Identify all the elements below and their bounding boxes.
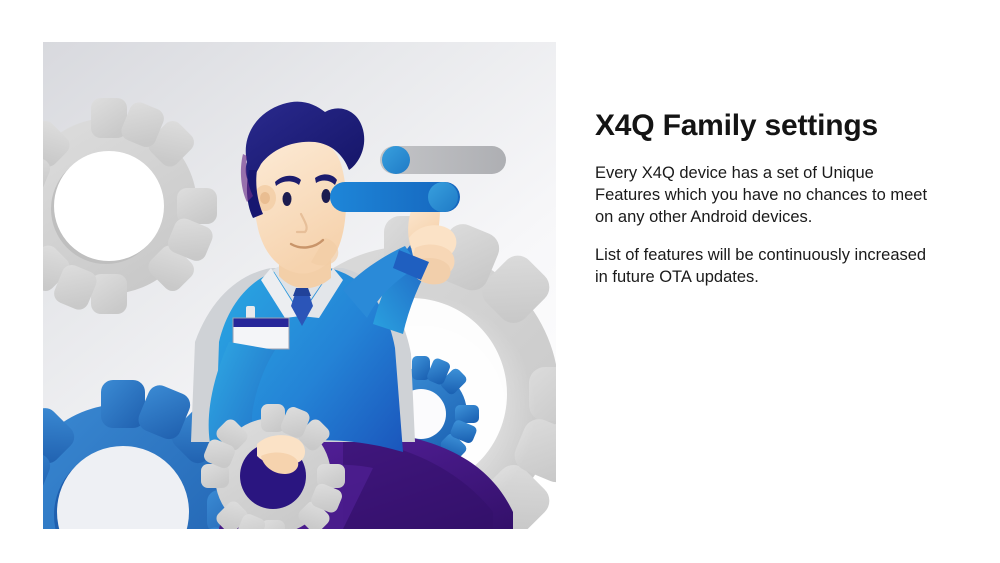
description-paragraph-1: Every X4Q device has a set of Unique Fea… (595, 162, 935, 228)
slide-root: X4Q Family settings Every X4Q device has… (0, 0, 1000, 563)
text-column: X4Q Family settings Every X4Q device has… (595, 108, 935, 288)
eye-left (283, 192, 292, 206)
toggle-switch-on (330, 182, 460, 212)
description-paragraph-2: List of features will be continuously in… (595, 244, 935, 288)
settings-illustration (43, 42, 556, 529)
ear-inner (260, 192, 270, 204)
illustration-panel (43, 42, 556, 529)
eye-right (322, 189, 331, 203)
page-title: X4Q Family settings (595, 108, 935, 144)
toggle-switch-off (380, 146, 506, 174)
tie-knot (293, 288, 311, 296)
